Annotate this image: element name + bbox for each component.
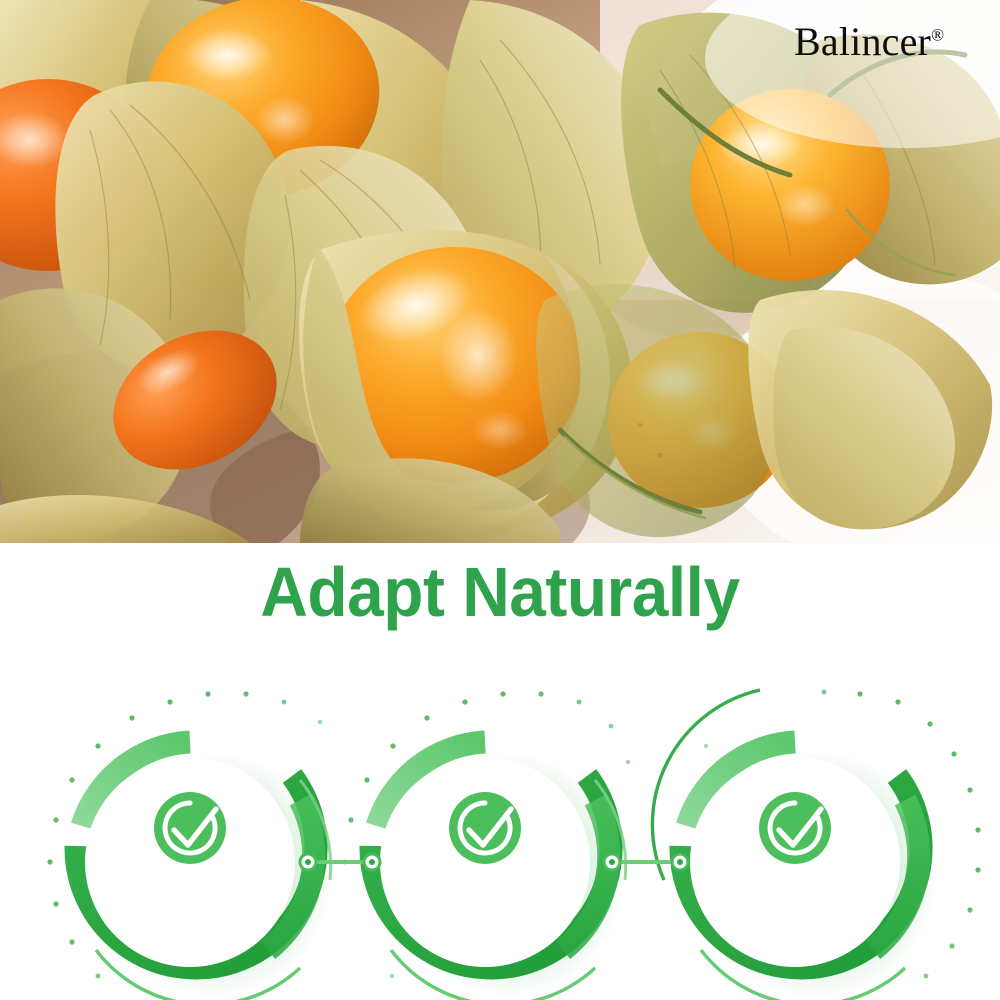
connector-1: [300, 854, 380, 870]
brand-logo: Balincer®: [794, 22, 944, 62]
check-circle-icon-3: [759, 792, 831, 864]
registered-trademark-icon: ®: [931, 26, 944, 45]
hero-photo: Balincer®: [0, 0, 1000, 543]
brand-name: Balincer: [794, 19, 931, 64]
connector-2: [604, 854, 688, 870]
check-circle-icon-1: [154, 792, 226, 864]
fruit-photo-illustration: [0, 0, 1000, 543]
benefit-rings-graphic: [0, 650, 1000, 1000]
check-circle-icon-2: [449, 792, 521, 864]
benefits-strip: MOOD, FOCUS SLEEP, ENERGY WELLBEING AND …: [0, 650, 1000, 1000]
product-infographic-page: Balincer® Adapt Naturally: [0, 0, 1000, 1000]
page-title: Adapt Naturally: [30, 556, 970, 630]
